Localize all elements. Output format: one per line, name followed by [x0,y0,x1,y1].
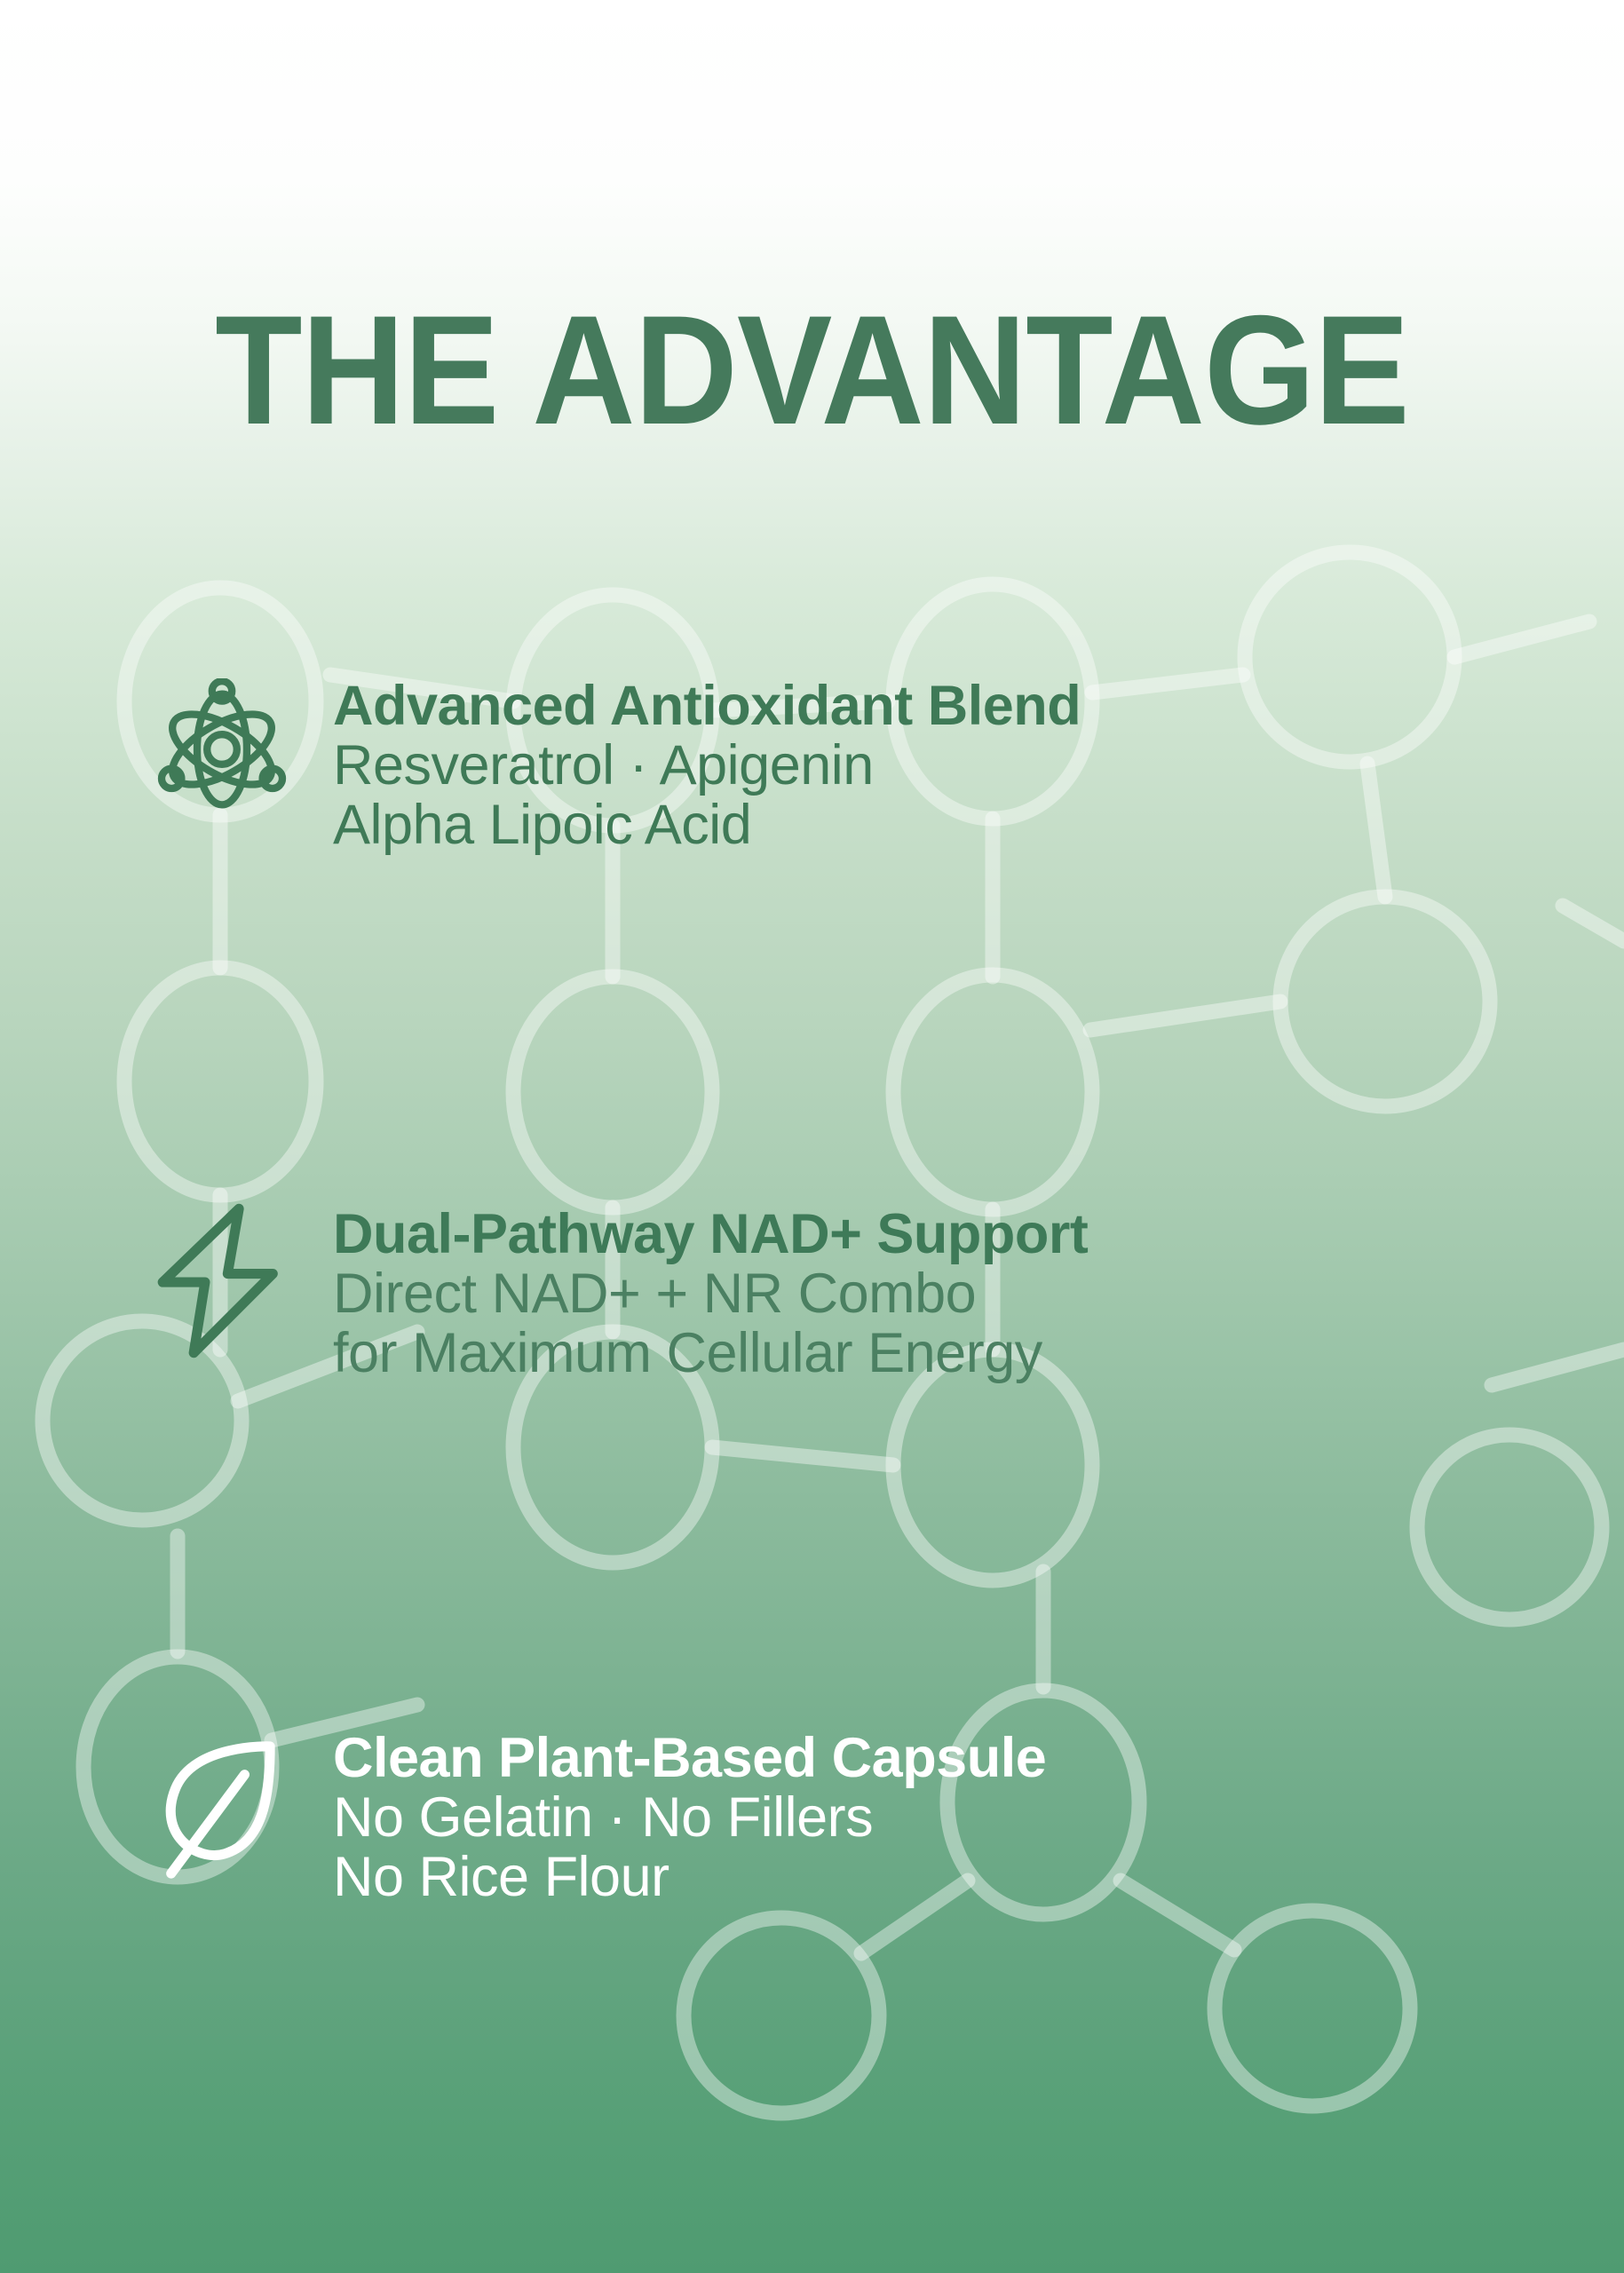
atom-icon [151,678,293,820]
lightning-bolt-icon [151,1203,293,1358]
feature-headline: Clean Plant-Based Capsule [333,1729,1046,1788]
feature-text-block: Dual-Pathway NAD+ Support Direct NAD+ + … [333,1203,1088,1382]
feature-line-1: No Gelatin · No Fillers [333,1788,1046,1848]
feature-text-block: Clean Plant-Based Capsule No Gelatin · N… [333,1727,1046,1906]
feature-row-antioxidant: Advanced Antioxidant Blend Resveratrol ·… [151,675,1081,854]
page-title: THE ADVANTAGE [65,293,1559,448]
feature-headline: Advanced Antioxidant Blend [333,677,1081,736]
advantage-poster: THE ADVANTAGE Advanced Antioxidant Blend… [0,0,1624,2273]
feature-text-block: Advanced Antioxidant Blend Resveratrol ·… [333,675,1081,854]
feature-icon-slot [151,1203,333,1358]
feature-icon-slot [151,675,333,820]
feature-line-2: No Rice Flour [333,1848,1046,1907]
feature-line-1: Resveratrol · Apigenin [333,736,1081,796]
feature-row-capsule: Clean Plant-Based Capsule No Gelatin · N… [151,1727,1046,1906]
feature-icon-slot [151,1727,333,1888]
feature-line-1: Direct NAD+ + NR Combo [333,1264,1088,1324]
feature-line-2: Alpha Lipoic Acid [333,796,1081,855]
feature-line-2: for Maximum Cellular Energy [333,1324,1088,1383]
feature-headline: Dual-Pathway NAD+ Support [333,1205,1088,1264]
feature-row-nad: Dual-Pathway NAD+ Support Direct NAD+ + … [151,1203,1088,1382]
leaf-icon [151,1732,293,1888]
